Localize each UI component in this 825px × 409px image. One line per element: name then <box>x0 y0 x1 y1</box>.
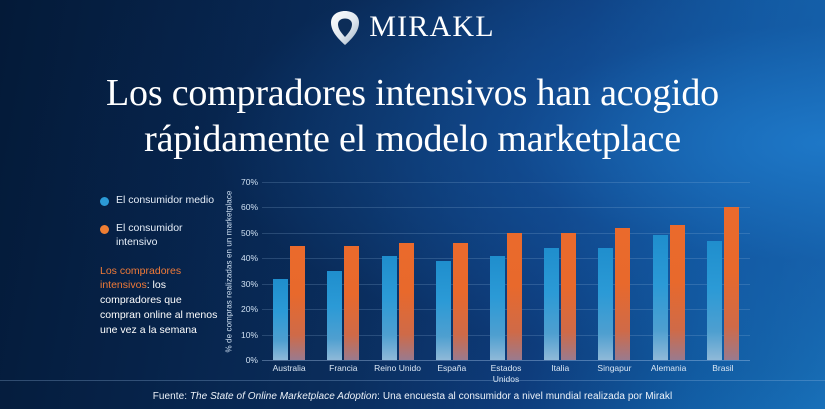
y-tick-label: 30% <box>228 279 258 289</box>
bar-average-consumer[interactable] <box>436 261 451 360</box>
bar-average-consumer[interactable] <box>598 248 613 360</box>
bar-average-consumer[interactable] <box>653 235 668 360</box>
headline-line-2: rápidamente el modelo marketplace <box>34 116 791 162</box>
bar-average-consumer[interactable] <box>544 248 559 360</box>
bar-group <box>696 182 750 360</box>
y-axis-ticks: 0%10%20%30%40%50%60%70% <box>228 182 258 360</box>
definition-note-highlight: Los compradores intensivos <box>100 265 181 292</box>
footer-divider <box>0 380 825 381</box>
bar-intensive-consumer[interactable] <box>399 243 414 360</box>
y-tick-label: 50% <box>228 228 258 238</box>
x-tick-label: Brasil <box>696 363 750 385</box>
bar-group <box>262 182 316 360</box>
y-tick-label: 0% <box>228 355 258 365</box>
legend-label-average: El consumidor medio <box>116 194 214 208</box>
y-tick-label: 70% <box>228 177 258 187</box>
bar-intensive-consumer[interactable] <box>507 233 522 360</box>
bar-average-consumer[interactable] <box>273 279 288 360</box>
page-title: Los compradores intensivos han acogido r… <box>0 70 825 163</box>
footnote-report-title: The State of Online Marketplace Adoption <box>190 391 377 402</box>
bar-groups <box>262 182 750 360</box>
footnote-suffix: : Una encuesta al consumidor a nivel mun… <box>377 391 672 402</box>
bar-intensive-consumer[interactable] <box>561 233 576 360</box>
x-axis-labels: AustraliaFranciaReino UnidoEspañaEstados… <box>262 363 750 385</box>
definition-note: Los compradores intensivos: los comprado… <box>100 264 220 339</box>
bar-intensive-consumer[interactable] <box>290 246 305 360</box>
slide-canvas: MIRAKL Los compradores intensivos han ac… <box>0 0 825 409</box>
brand-name: MIRAKL <box>369 12 495 44</box>
plot-area: 0%10%20%30%40%50%60%70% <box>262 182 750 360</box>
footnote-prefix: Fuente: <box>153 391 190 402</box>
x-tick-label: Francia <box>316 363 370 385</box>
chart-legend: El consumidor medio El consumidor intens… <box>100 194 220 338</box>
x-tick-label: Estados Unidos <box>479 363 533 385</box>
bar-intensive-consumer[interactable] <box>724 207 739 360</box>
bar-group <box>587 182 641 360</box>
bar-intensive-consumer[interactable] <box>615 228 630 360</box>
x-tick-label: Alemania <box>642 363 696 385</box>
x-tick-label: Italia <box>533 363 587 385</box>
legend-dot-icon <box>100 197 109 206</box>
bar-average-consumer[interactable] <box>707 241 722 361</box>
mirakl-shield-icon <box>330 10 360 46</box>
x-tick-label: Singapur <box>587 363 641 385</box>
legend-item-intensive: El consumidor intensivo <box>100 222 220 250</box>
x-tick-label: Australia <box>262 363 316 385</box>
legend-item-average: El consumidor medio <box>100 194 220 208</box>
y-tick-label: 10% <box>228 330 258 340</box>
bar-group <box>425 182 479 360</box>
legend-dot-icon <box>100 225 109 234</box>
bar-group <box>533 182 587 360</box>
bar-average-consumer[interactable] <box>327 271 342 360</box>
x-tick-label: Reino Unido <box>370 363 424 385</box>
bar-intensive-consumer[interactable] <box>670 225 685 360</box>
bar-intensive-consumer[interactable] <box>344 246 359 360</box>
chart-container: El consumidor medio El consumidor intens… <box>0 170 825 370</box>
grid-line <box>262 360 750 361</box>
y-tick-label: 20% <box>228 304 258 314</box>
x-tick-label: España <box>425 363 479 385</box>
legend-label-intensive: El consumidor intensivo <box>116 222 220 250</box>
bar-group <box>316 182 370 360</box>
bar-average-consumer[interactable] <box>490 256 505 360</box>
y-tick-label: 40% <box>228 253 258 263</box>
y-tick-label: 60% <box>228 202 258 212</box>
source-footnote: Fuente: The State of Online Marketplace … <box>0 391 825 402</box>
bar-group <box>479 182 533 360</box>
brand-logo: MIRAKL <box>0 10 825 46</box>
bar-intensive-consumer[interactable] <box>453 243 468 360</box>
bar-group <box>370 182 424 360</box>
bar-average-consumer[interactable] <box>382 256 397 360</box>
headline-line-1: Los compradores intensivos han acogido <box>34 70 791 116</box>
bar-group <box>642 182 696 360</box>
